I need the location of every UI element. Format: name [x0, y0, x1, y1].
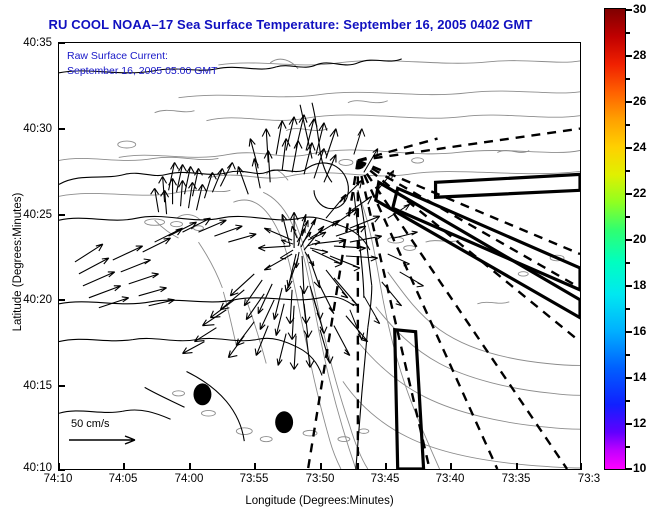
colorbar-tick	[626, 468, 632, 470]
colorbar-tick	[626, 285, 632, 287]
temperature-colorbar	[604, 8, 626, 470]
colorbar-minor-tick	[626, 170, 630, 172]
x-tick	[123, 463, 125, 470]
colorbar-minor-tick	[626, 124, 630, 126]
x-tick	[516, 463, 518, 470]
map-plot-area: Raw Surface Current: September 16, 2005 …	[58, 42, 581, 470]
colorbar-minor-tick	[626, 400, 630, 402]
radar-beam-dashed	[308, 129, 580, 469]
annotation-line-1: Raw Surface Current:	[67, 49, 218, 64]
scalebar-label: 50 cm/s	[71, 418, 175, 430]
colorbar-tick	[626, 193, 632, 195]
colorbar-tick-label: 24	[633, 140, 646, 154]
colorbar-tick-label: 20	[633, 232, 646, 246]
colorbar-tick-label: 14	[633, 370, 646, 384]
x-tick-label: 73:40	[436, 473, 465, 485]
colorbar-tick-label: 30	[633, 2, 646, 16]
colorbar-tick	[626, 239, 632, 241]
x-tick	[320, 463, 322, 470]
y-tick	[58, 299, 65, 301]
y-tick-label: 40:15	[8, 380, 52, 392]
x-tick-label: 73:55	[240, 473, 269, 485]
x-tick-label: 73:45	[371, 473, 400, 485]
x-axis-title: Longitude (Degrees:Minutes)	[58, 495, 581, 507]
x-tick-label: 73:50	[306, 473, 335, 485]
colorbar-tick	[626, 101, 632, 103]
y-tick-label: 40:10	[8, 462, 52, 474]
colorbar-minor-tick	[626, 216, 630, 218]
x-tick	[254, 463, 256, 470]
colorbar-tick	[626, 423, 632, 425]
x-tick-label: 73:3	[578, 473, 600, 485]
x-tick-label: 74:05	[109, 473, 138, 485]
figure-title: RU COOL NOAA–17 Sea Surface Temperature:…	[0, 17, 651, 32]
colorbar-tick-label: 10	[633, 461, 646, 475]
scalebar-arrow-icon	[65, 433, 143, 447]
y-tick	[58, 469, 65, 471]
sst-contours	[59, 61, 580, 469]
x-tick	[385, 463, 387, 470]
colorbar-tick-label: 26	[633, 94, 646, 108]
x-tick	[189, 463, 191, 470]
x-tick-label: 73:35	[502, 473, 531, 485]
colorbar-minor-tick	[626, 262, 630, 264]
colorbar-minor-tick	[626, 354, 630, 356]
colorbar-minor-tick	[626, 446, 630, 448]
velocity-scale-legend: 50 cm/s	[65, 418, 175, 447]
y-tick	[58, 128, 65, 130]
colorbar-tick-label: 12	[633, 416, 646, 430]
y-axis-title: Latitude (Degrees:Minutes)	[12, 152, 24, 372]
y-tick	[58, 42, 65, 44]
colorbar-tick-label: 28	[633, 48, 646, 62]
x-tick	[580, 463, 582, 470]
colorbar-tick	[626, 147, 632, 149]
colorbar-minor-tick	[626, 78, 630, 80]
y-tick-label: 40:35	[8, 37, 52, 49]
colorbar-minor-tick	[626, 32, 630, 34]
colorbar-tick	[626, 55, 632, 57]
y-tick	[58, 385, 65, 387]
colorbar-tick	[626, 9, 632, 11]
current-annotation: Raw Surface Current: September 16, 2005 …	[67, 49, 218, 79]
figure-root: RU COOL NOAA–17 Sea Surface Temperature:…	[0, 0, 651, 518]
y-tick	[58, 214, 65, 216]
colorbar-minor-tick	[626, 308, 630, 310]
map-graphics	[59, 43, 580, 469]
station-markers	[193, 383, 293, 433]
colorbar-tick-label: 22	[633, 186, 646, 200]
colorbar-tick-label: 18	[633, 278, 646, 292]
annotation-line-2: September 16, 2005 05:00 GMT	[67, 64, 218, 79]
y-tick-label: 40:30	[8, 123, 52, 135]
colorbar-tick	[626, 331, 632, 333]
x-tick	[450, 463, 452, 470]
x-tick-label: 74:10	[44, 473, 73, 485]
x-tick-label: 74:00	[175, 473, 204, 485]
colorbar-tick-label: 16	[633, 324, 646, 338]
colorbar-tick	[626, 377, 632, 379]
